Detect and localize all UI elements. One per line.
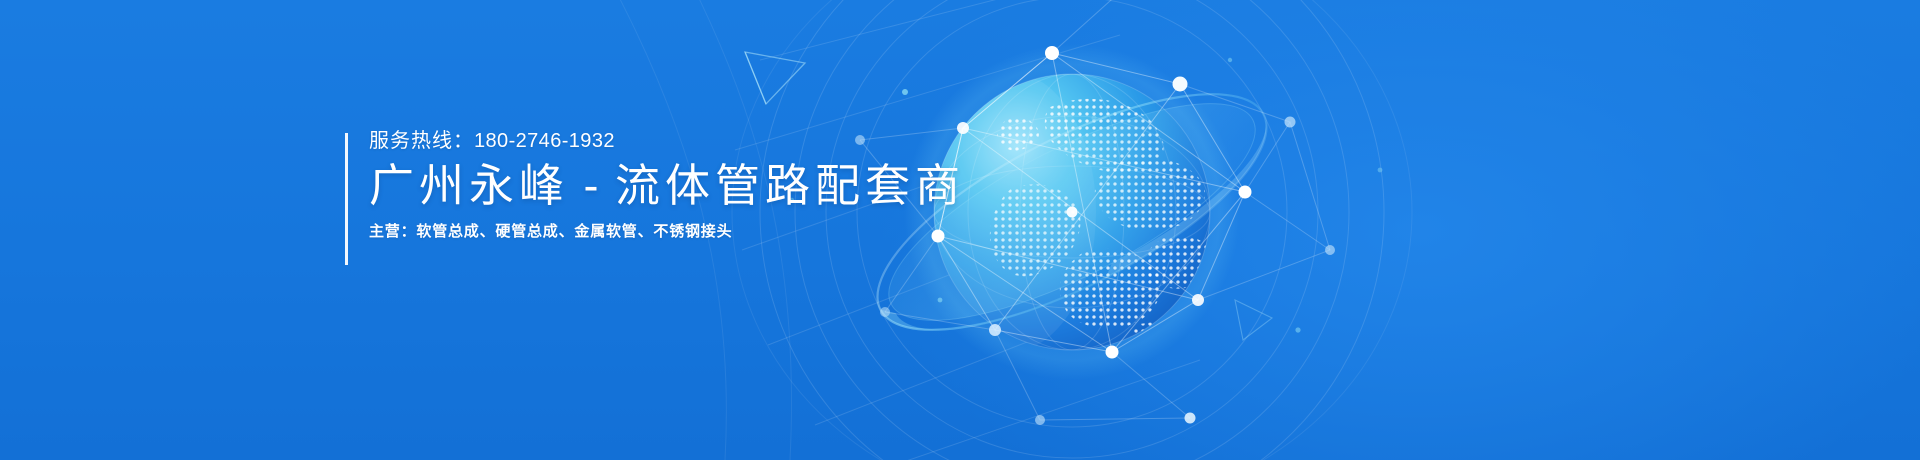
hotline-row: 服务热线：180-2746-1932 xyxy=(369,128,965,154)
headline-dash: - xyxy=(569,160,615,211)
hero-banner: 服务热线：180-2746-1932 广州永峰 - 流体管路配套商 主营：软管总… xyxy=(0,0,1920,460)
headline-part-1: 广州永峰 xyxy=(369,160,569,211)
banner-text-block: 服务热线：180-2746-1932 广州永峰 - 流体管路配套商 主营：软管总… xyxy=(345,128,965,268)
wireframe-triangle xyxy=(745,52,805,104)
hotline-number: 180-2746-1932 xyxy=(474,130,615,152)
accent-bar xyxy=(345,133,348,265)
subtitle: 主营：软管总成、硬管总成、金属软管、不锈钢接头 xyxy=(369,221,965,243)
hotline-label: 服务热线： xyxy=(369,130,474,152)
page-title: 广州永峰 - 流体管路配套商 xyxy=(369,158,965,214)
wireframe-triangle-small xyxy=(1235,300,1272,340)
headline-part-2: 流体管路配套商 xyxy=(615,160,965,211)
